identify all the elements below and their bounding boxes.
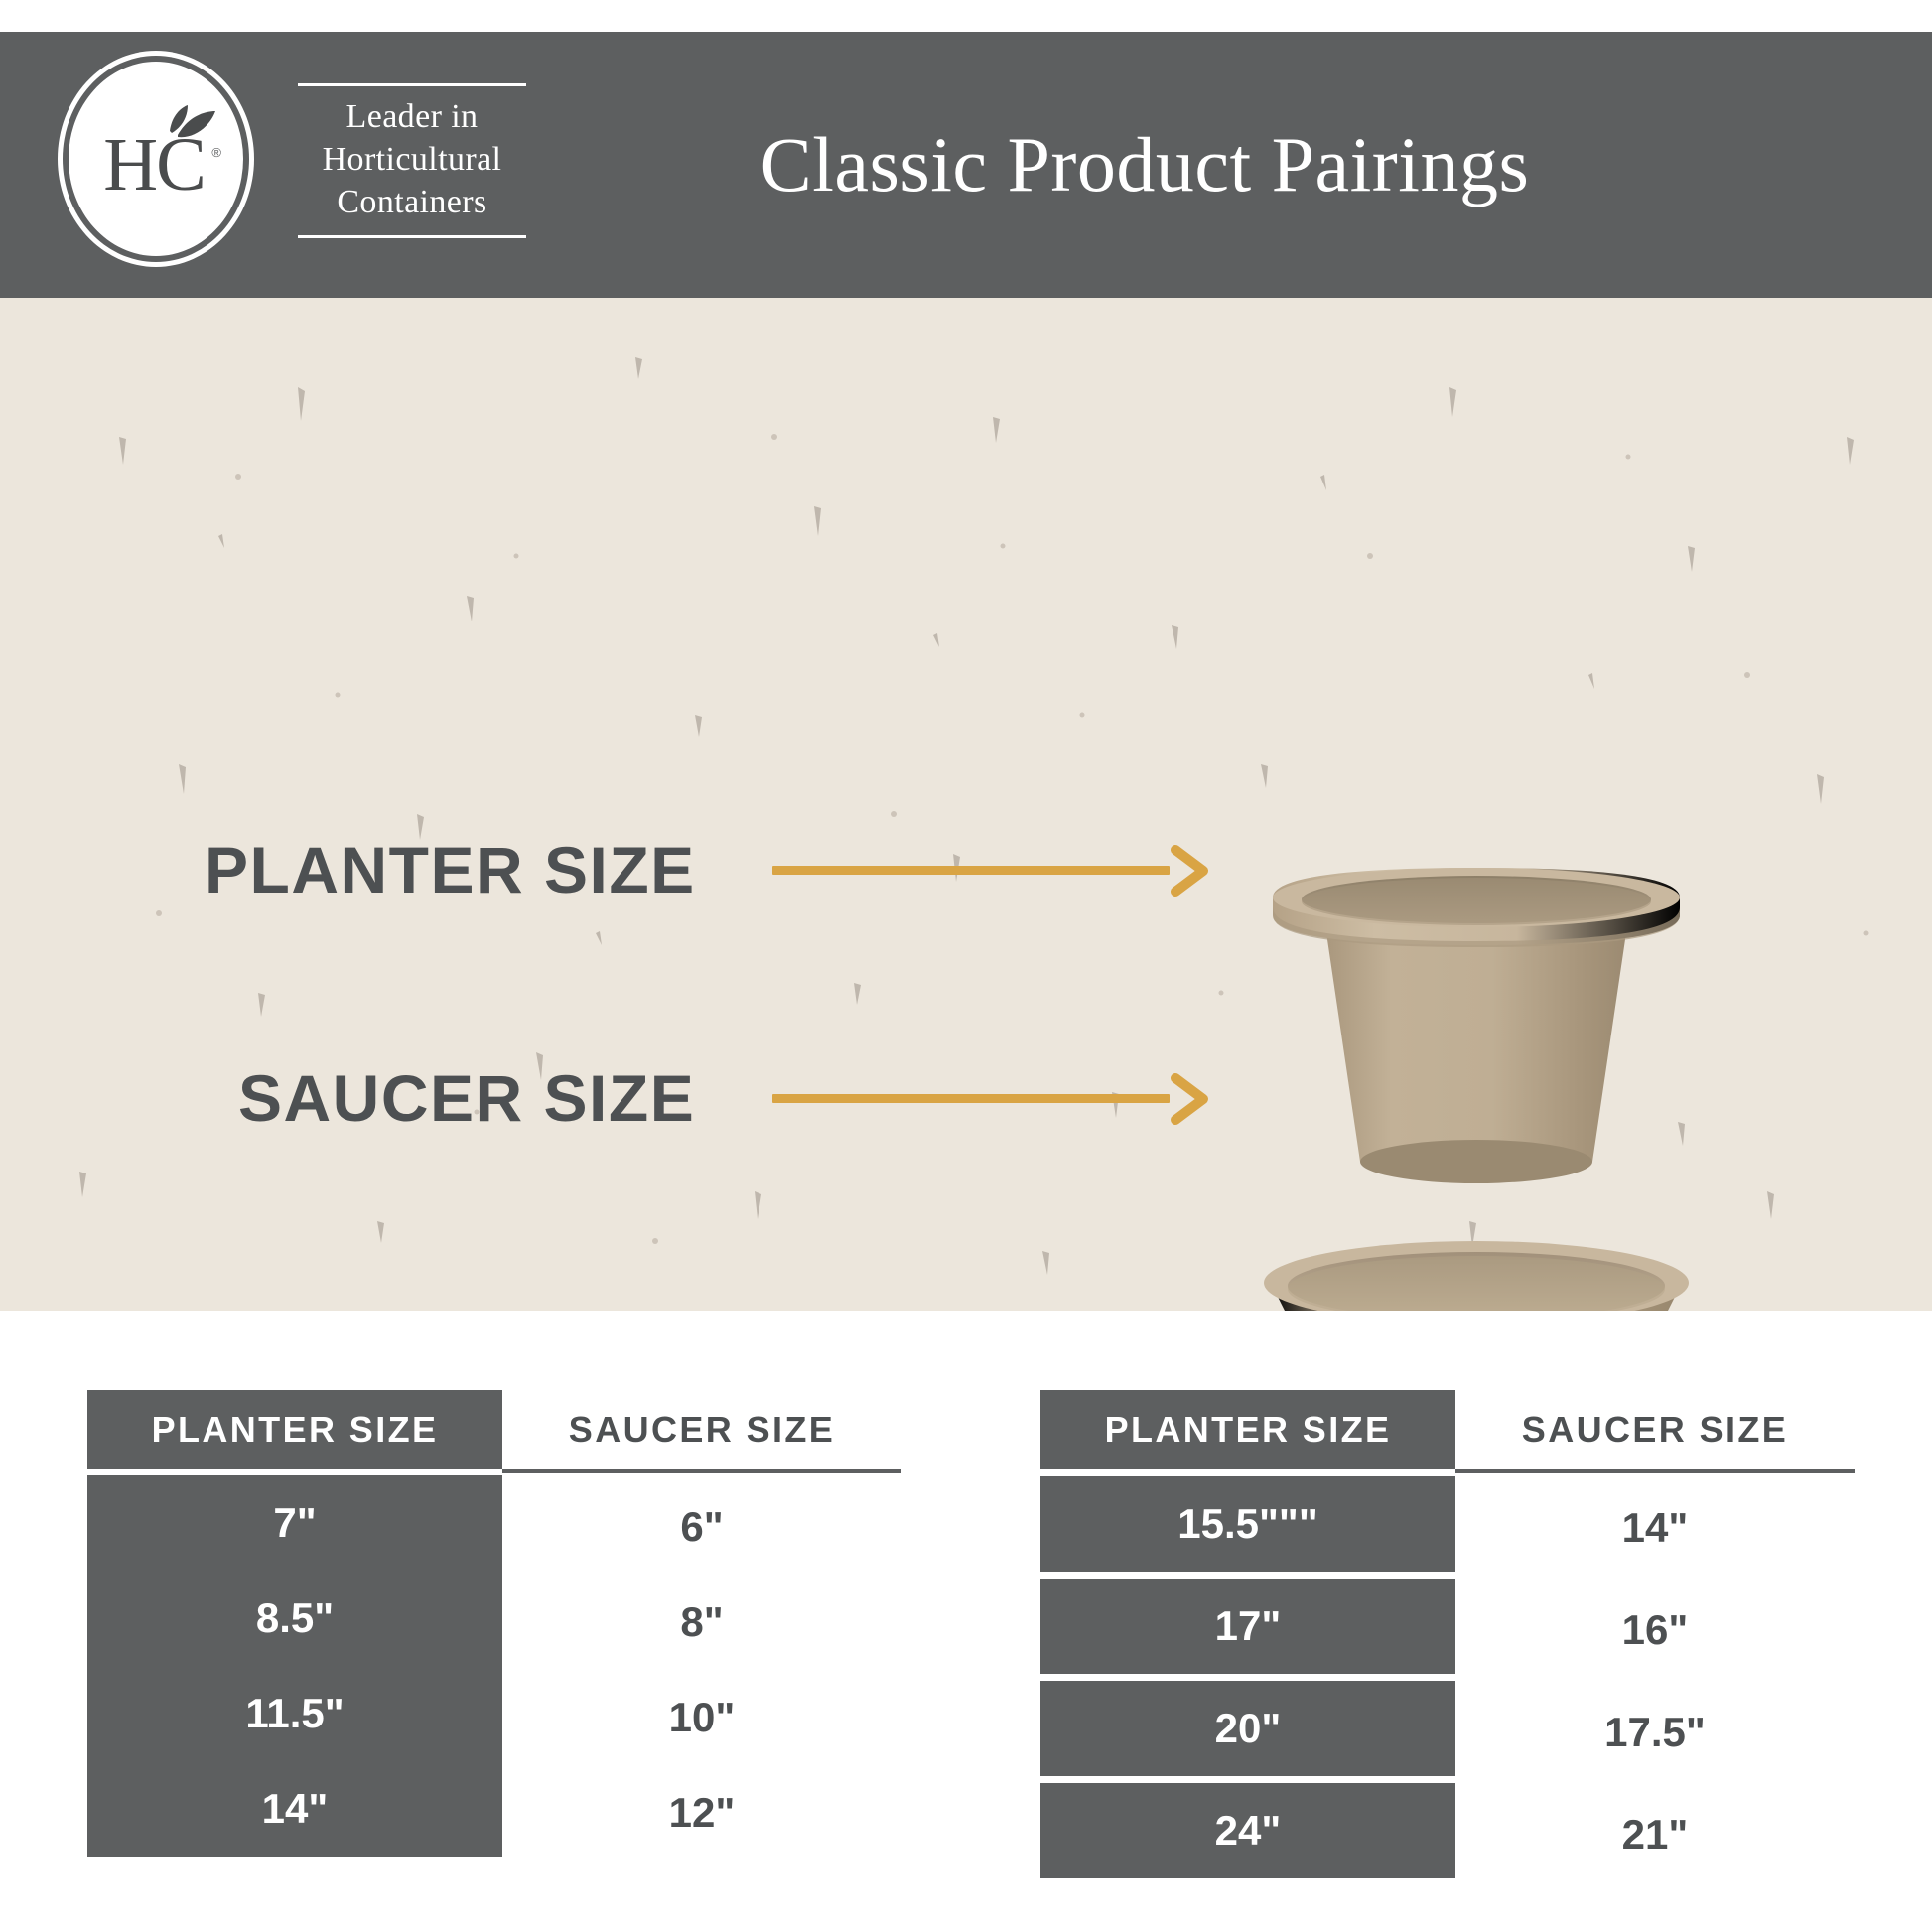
tagline-line-2: Horticultural bbox=[298, 139, 526, 182]
table-row: 11.5" bbox=[87, 1666, 502, 1761]
tagline-line-3: Containers bbox=[298, 182, 526, 224]
table-row: 21" bbox=[1455, 1787, 1855, 1882]
planter-pot-illustration bbox=[1263, 846, 1690, 1205]
left-saucer-header: SAUCER SIZE bbox=[502, 1390, 901, 1473]
left-planter-header: PLANTER SIZE bbox=[87, 1390, 502, 1469]
planter-arrow-shaft bbox=[772, 866, 1170, 875]
right-planter-column: PLANTER SIZE 15.5""" 17" 20" 24" bbox=[1040, 1390, 1455, 1878]
logo-badge: HC ® bbox=[69, 62, 243, 256]
table-row: 8" bbox=[502, 1575, 901, 1670]
saucer-arrow bbox=[772, 1084, 1217, 1114]
table-row: 17" bbox=[1040, 1579, 1455, 1674]
tagline-rule-bottom bbox=[298, 235, 526, 238]
right-saucer-values: 14" 16" 17.5" 21" bbox=[1455, 1480, 1855, 1882]
table-row: 15.5""" bbox=[1040, 1476, 1455, 1572]
logo-monogram: HC bbox=[103, 127, 205, 203]
table-row: 12" bbox=[502, 1765, 901, 1861]
right-planter-values: 15.5""" 17" 20" 24" bbox=[1040, 1476, 1455, 1878]
table-row: 20" bbox=[1040, 1681, 1455, 1776]
planter-arrow-head bbox=[1160, 840, 1221, 901]
saucer-arrow-head bbox=[1160, 1068, 1221, 1130]
left-planter-values: 7" 8.5" 11.5" 14" bbox=[87, 1475, 502, 1857]
right-saucer-header: SAUCER SIZE bbox=[1455, 1390, 1855, 1473]
header-bar: HC ® Leader in Horticultural Containers … bbox=[0, 32, 1932, 298]
brand-tagline: Leader in Horticultural Containers bbox=[298, 83, 526, 238]
table-row: 8.5" bbox=[87, 1571, 502, 1666]
saucer-arrow-shaft bbox=[772, 1094, 1170, 1103]
right-planter-header: PLANTER SIZE bbox=[1040, 1390, 1455, 1469]
page-title-text: Classic Product Pairings bbox=[760, 120, 1530, 209]
table-row: 7" bbox=[87, 1475, 502, 1571]
size-tables: PLANTER SIZE 7" 8.5" 11.5" 14" SAUCER SI… bbox=[0, 1390, 1932, 1932]
left-planter-column: PLANTER SIZE 7" 8.5" 11.5" 14" bbox=[87, 1390, 502, 1857]
saucer-size-label: SAUCER SIZE bbox=[238, 1060, 695, 1136]
table-row: 6" bbox=[502, 1479, 901, 1575]
tagline-text: Leader in Horticultural Containers bbox=[298, 86, 526, 235]
planter-arrow bbox=[772, 856, 1217, 886]
table-row: 16" bbox=[1455, 1583, 1855, 1678]
table-row: 17.5" bbox=[1455, 1685, 1855, 1780]
left-saucer-values: 6" 8" 10" 12" bbox=[502, 1479, 901, 1861]
right-saucer-column: SAUCER SIZE 14" 16" 17.5" 21" bbox=[1455, 1390, 1855, 1882]
saucer-dish-illustration bbox=[1263, 1231, 1690, 1311]
page-title: Classic Product Pairings bbox=[0, 32, 1932, 298]
table-row: 10" bbox=[502, 1670, 901, 1765]
tagline-line-1: Leader in bbox=[298, 96, 526, 139]
table-row: 14" bbox=[87, 1761, 502, 1857]
registered-mark: ® bbox=[211, 145, 221, 160]
brand-logo: HC ® bbox=[62, 60, 250, 258]
table-row: 14" bbox=[1455, 1480, 1855, 1576]
table-row: 24" bbox=[1040, 1783, 1455, 1878]
diagram-panel: PLANTER SIZE bbox=[0, 298, 1932, 1311]
planter-size-label: PLANTER SIZE bbox=[205, 832, 696, 907]
left-saucer-column: SAUCER SIZE 6" 8" 10" 12" bbox=[502, 1390, 901, 1861]
